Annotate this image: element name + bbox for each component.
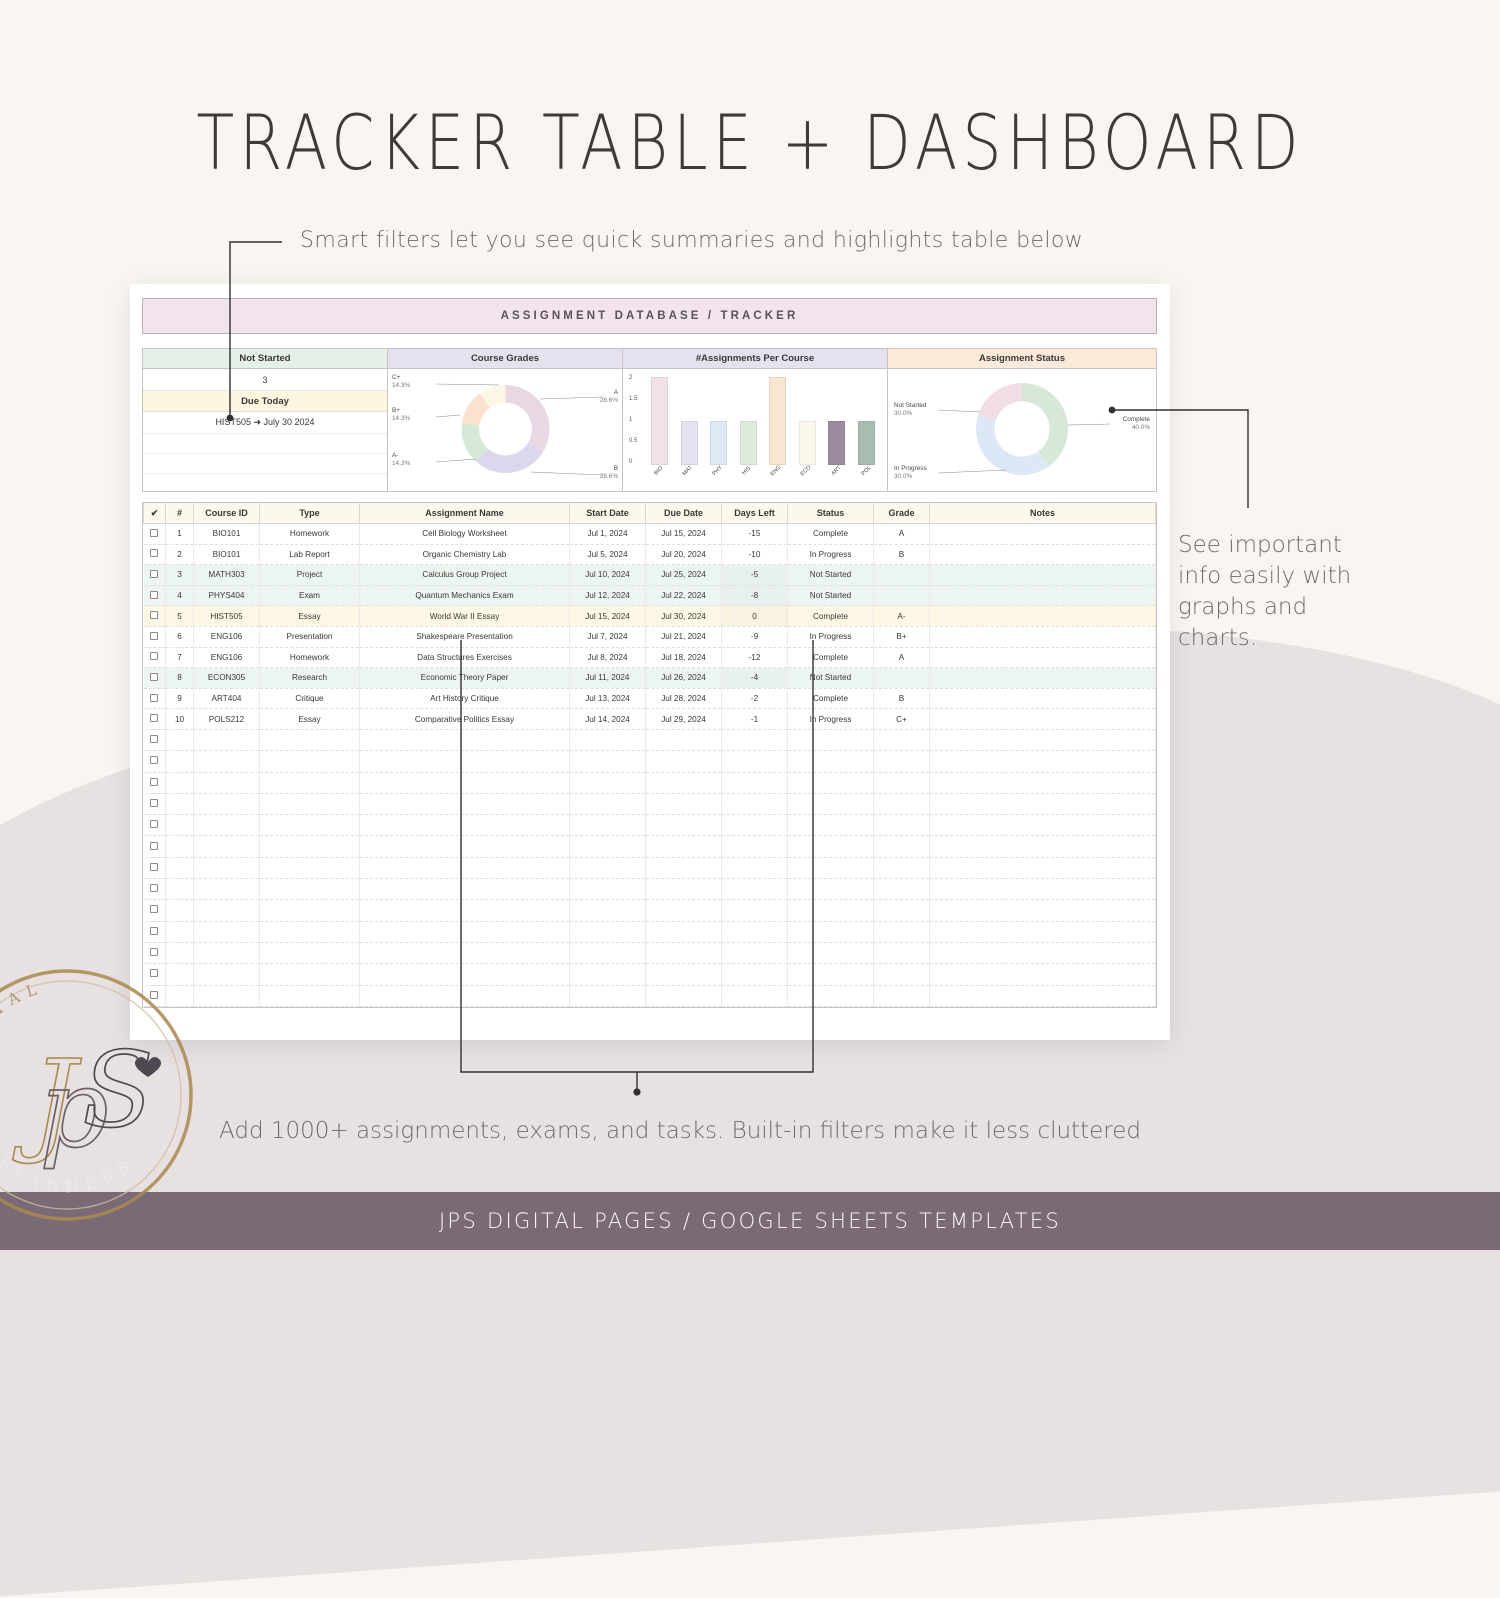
not-started-blank-row: [143, 454, 387, 474]
cell-course-id[interactable]: BIO101: [194, 544, 260, 565]
cell-empty[interactable]: [194, 793, 260, 814]
cell-type[interactable]: Exam: [260, 585, 360, 606]
cell-empty[interactable]: [194, 921, 260, 942]
cell-number[interactable]: 6: [166, 626, 194, 647]
cell-type[interactable]: Essay: [260, 709, 360, 730]
cell-empty[interactable]: [874, 879, 930, 900]
cell-empty[interactable]: [874, 900, 930, 921]
grade-pct-a: 28.6%: [600, 397, 618, 404]
bar-ytick-1-5: 1.5: [629, 396, 637, 402]
cell-days-left[interactable]: -5: [722, 565, 788, 586]
grade-pct-bplus: 14.3%: [392, 415, 410, 422]
cell-notes[interactable]: [930, 668, 1156, 689]
cell-empty[interactable]: [930, 729, 1156, 750]
cell-empty[interactable]: [260, 751, 360, 772]
cell-number[interactable]: 3: [166, 565, 194, 586]
bar-xlabel-pol: POL: [860, 465, 872, 477]
row-checkbox[interactable]: [144, 900, 166, 921]
th-status[interactable]: Status: [788, 503, 874, 524]
table-row[interactable]: 2BIO101Lab ReportOrganic Chemistry LabJu…: [144, 544, 1156, 565]
table-row[interactable]: 1BIO101HomeworkCell Biology WorksheetJul…: [144, 524, 1156, 545]
row-checkbox[interactable]: [144, 709, 166, 730]
cell-type[interactable]: Critique: [260, 688, 360, 709]
cell-empty[interactable]: [260, 964, 360, 985]
grade-pct-b: 28.6%: [600, 473, 618, 480]
cell-days-left[interactable]: -15: [722, 524, 788, 545]
cell-empty[interactable]: [260, 815, 360, 836]
cell-status[interactable]: Not Started: [788, 585, 874, 606]
not-started-blank-row: [143, 434, 387, 454]
cell-notes[interactable]: [930, 709, 1156, 730]
cell-course-id[interactable]: PHYS404: [194, 585, 260, 606]
cell-empty[interactable]: [260, 836, 360, 857]
bar-mat: [681, 421, 698, 465]
cell-empty[interactable]: [930, 815, 1156, 836]
cell-empty[interactable]: [194, 879, 260, 900]
cell-empty[interactable]: [930, 921, 1156, 942]
footer-text: JPS DIGITAL PAGES / GOOGLE SHEETS TEMPLA…: [439, 1209, 1061, 1233]
cell-empty[interactable]: [194, 772, 260, 793]
cell-status[interactable]: Complete: [788, 606, 874, 627]
cell-start-date[interactable]: Jul 5, 2024: [570, 544, 646, 565]
bar-eco: [799, 421, 816, 465]
cell-empty[interactable]: [194, 857, 260, 878]
cell-empty[interactable]: [194, 815, 260, 836]
cell-number[interactable]: 10: [166, 709, 194, 730]
cell-grade[interactable]: B: [874, 688, 930, 709]
row-checkbox[interactable]: [144, 565, 166, 586]
cell-empty[interactable]: [930, 942, 1156, 963]
assignments-bar-chart: 2 1.5 1 0.5 0: [623, 369, 887, 491]
cell-grade[interactable]: B+: [874, 626, 930, 647]
grade-pct-aminus: 14.3%: [392, 460, 410, 467]
cell-type[interactable]: Research: [260, 668, 360, 689]
table-row[interactable]: 3MATH303ProjectCalculus Group ProjectJul…: [144, 565, 1156, 586]
cell-empty[interactable]: [194, 836, 260, 857]
assignment-status-header: Assignment Status: [888, 349, 1156, 369]
cell-start-date[interactable]: Jul 15, 2024: [570, 606, 646, 627]
cell-empty[interactable]: [930, 836, 1156, 857]
cell-empty[interactable]: [166, 900, 194, 921]
th-grade[interactable]: Grade: [874, 503, 930, 524]
cell-course-id[interactable]: ART404: [194, 688, 260, 709]
row-checkbox[interactable]: [144, 544, 166, 565]
bar-pol: [858, 421, 875, 465]
th-check[interactable]: ✔: [144, 503, 166, 524]
bar-xlabel-art: ART: [830, 465, 842, 477]
status-label-not-started-text: Not Started: [894, 402, 926, 409]
bar-eng: [769, 377, 786, 465]
row-checkbox[interactable]: [144, 815, 166, 836]
cell-start-date[interactable]: Jul 1, 2024: [570, 524, 646, 545]
status-pct-not-started: 30.0%: [894, 410, 912, 417]
cell-days-left[interactable]: 0: [722, 606, 788, 627]
cell-empty[interactable]: [874, 815, 930, 836]
grade-label-a: A 28.6%: [600, 389, 618, 405]
cell-due-date[interactable]: Jul 30, 2024: [646, 606, 722, 627]
cell-notes[interactable]: [930, 688, 1156, 709]
cell-assignment-name[interactable]: World War II Essay: [360, 606, 570, 627]
cell-course-id[interactable]: POLS212: [194, 709, 260, 730]
status-label-in-progress-text: In Progress: [894, 465, 927, 472]
cell-empty[interactable]: [930, 751, 1156, 772]
cell-empty[interactable]: [166, 751, 194, 772]
bar-xlabel-his: HIS: [741, 466, 752, 477]
cell-course-id[interactable]: MATH303: [194, 565, 260, 586]
cell-number[interactable]: 2: [166, 544, 194, 565]
cell-notes[interactable]: [930, 606, 1156, 627]
cell-empty[interactable]: [260, 879, 360, 900]
row-checkbox[interactable]: [144, 751, 166, 772]
cell-empty[interactable]: [166, 772, 194, 793]
status-label-not-started: Not Started 30.0%: [894, 402, 926, 418]
callout-top-text: Smart filters let you see quick summarie…: [300, 228, 1083, 253]
not-started-blank-row: [143, 474, 387, 491]
th-days-left[interactable]: Days Left: [722, 503, 788, 524]
bar-xlabel-phy: PHY: [712, 465, 724, 477]
cell-notes[interactable]: [930, 585, 1156, 606]
bar-xlabel-mat: MAT: [682, 465, 694, 477]
cell-number[interactable]: 8: [166, 668, 194, 689]
bar-xlabel-eng: ENG: [770, 465, 783, 478]
bar-ytick-2: 2: [629, 375, 632, 381]
cell-due-date[interactable]: Jul 20, 2024: [646, 544, 722, 565]
cell-assignment-name[interactable]: Quantum Mechanics Exam: [360, 585, 570, 606]
th-type[interactable]: Type: [260, 503, 360, 524]
cell-assignment-name[interactable]: Calculus Group Project: [360, 565, 570, 586]
cell-notes[interactable]: [930, 647, 1156, 668]
cell-empty[interactable]: [260, 921, 360, 942]
cell-empty[interactable]: [874, 985, 930, 1006]
status-pct-in-progress: 30.0%: [894, 473, 912, 480]
cell-grade[interactable]: B: [874, 544, 930, 565]
cell-course-id[interactable]: BIO101: [194, 524, 260, 545]
assignments-per-course-header: #Assignments Per Course: [623, 349, 887, 369]
dashboard-card-course-grades: Course Grades: [388, 349, 623, 491]
cell-type[interactable]: Presentation: [260, 626, 360, 647]
row-checkbox[interactable]: [144, 688, 166, 709]
cell-empty[interactable]: [166, 793, 194, 814]
footer-bar: JPS DIGITAL PAGES / GOOGLE SHEETS TEMPLA…: [0, 1192, 1500, 1250]
leader-line-right: [1108, 404, 1258, 514]
cell-empty[interactable]: [166, 921, 194, 942]
cell-empty[interactable]: [874, 751, 930, 772]
bar-phy: [710, 421, 727, 465]
cell-empty[interactable]: [260, 729, 360, 750]
row-checkbox[interactable]: [144, 729, 166, 750]
th-course-id[interactable]: Course ID: [194, 503, 260, 524]
cell-due-date[interactable]: Jul 15, 2024: [646, 524, 722, 545]
cell-course-id[interactable]: ENG106: [194, 647, 260, 668]
cell-days-left[interactable]: -10: [722, 544, 788, 565]
cell-empty[interactable]: [930, 964, 1156, 985]
cell-notes[interactable]: [930, 544, 1156, 565]
cell-notes[interactable]: [930, 524, 1156, 545]
page-title: TRACKER TABLE + DASHBOARD: [0, 98, 1500, 187]
cell-empty[interactable]: [874, 857, 930, 878]
cell-grade[interactable]: A: [874, 647, 930, 668]
bar-ytick-1: 1: [629, 417, 632, 423]
cell-empty[interactable]: [260, 985, 360, 1006]
bar-ytick-0-5: 0.5: [629, 438, 637, 444]
cell-empty[interactable]: [166, 836, 194, 857]
course-grades-header: Course Grades: [388, 349, 622, 369]
grade-label-a-text: A: [614, 389, 618, 396]
cell-empty[interactable]: [194, 751, 260, 772]
cell-empty[interactable]: [260, 857, 360, 878]
grade-label-aminus-text: A-: [392, 452, 398, 459]
leader-line-top: [222, 236, 302, 426]
cell-start-date[interactable]: Jul 10, 2024: [570, 565, 646, 586]
cell-empty[interactable]: [874, 964, 930, 985]
row-checkbox[interactable]: [144, 772, 166, 793]
bar-his: [740, 421, 757, 465]
logo-monogram-s: S: [82, 1029, 153, 1151]
cell-course-id[interactable]: HIST505: [194, 606, 260, 627]
bar-bio: [651, 377, 668, 465]
cell-course-id[interactable]: ECON305: [194, 668, 260, 689]
bar-xlabel-bio: BIO: [654, 465, 665, 476]
grade-label-bplus: B+ 14.3%: [392, 407, 410, 423]
assignments-per-course-body: 2 1.5 1 0.5 0: [623, 369, 887, 491]
cell-status[interactable]: Complete: [788, 524, 874, 545]
cell-empty[interactable]: [874, 793, 930, 814]
brand-logo: DIGITAL PLANNERS J p S: [0, 950, 212, 1240]
cell-empty[interactable]: [166, 815, 194, 836]
cell-notes[interactable]: [930, 565, 1156, 586]
cell-type[interactable]: Homework: [260, 524, 360, 545]
cell-empty[interactable]: [930, 900, 1156, 921]
cell-notes[interactable]: [930, 626, 1156, 647]
bar-ytick-0: 0: [629, 459, 632, 465]
cell-empty[interactable]: [930, 879, 1156, 900]
cell-status[interactable]: Not Started: [788, 565, 874, 586]
th-due-date[interactable]: Due Date: [646, 503, 722, 524]
grade-label-cplus: C+ 14.3%: [392, 374, 410, 390]
course-grades-donut-chart: C+ 14.3% B+ 14.3% A- 14.3% A: [388, 369, 622, 491]
cell-course-id[interactable]: ENG106: [194, 626, 260, 647]
row-checkbox[interactable]: [144, 524, 166, 545]
cell-start-date[interactable]: Jul 12, 2024: [570, 585, 646, 606]
row-checkbox[interactable]: [144, 921, 166, 942]
cell-grade[interactable]: C+: [874, 709, 930, 730]
th-assignment-name[interactable]: Assignment Name: [360, 503, 570, 524]
callout-right-text: See important info easily with graphs an…: [1178, 530, 1378, 654]
cell-empty[interactable]: [930, 772, 1156, 793]
th-start-date[interactable]: Start Date: [570, 503, 646, 524]
cell-days-left[interactable]: -8: [722, 585, 788, 606]
cell-number[interactable]: 9: [166, 688, 194, 709]
cell-due-date[interactable]: Jul 25, 2024: [646, 565, 722, 586]
grade-pct-cplus: 14.3%: [392, 382, 410, 389]
cell-type[interactable]: Lab Report: [260, 544, 360, 565]
cell-empty[interactable]: [194, 900, 260, 921]
cell-empty[interactable]: [930, 857, 1156, 878]
row-checkbox[interactable]: [144, 668, 166, 689]
cell-empty[interactable]: [874, 942, 930, 963]
cell-empty[interactable]: [874, 772, 930, 793]
cell-empty[interactable]: [930, 793, 1156, 814]
course-grades-body: C+ 14.3% B+ 14.3% A- 14.3% A: [388, 369, 622, 491]
cell-type[interactable]: Project: [260, 565, 360, 586]
cell-grade[interactable]: A-: [874, 606, 930, 627]
row-checkbox[interactable]: [144, 793, 166, 814]
cell-empty[interactable]: [194, 729, 260, 750]
cell-number[interactable]: 7: [166, 647, 194, 668]
cell-empty[interactable]: [260, 942, 360, 963]
cell-number[interactable]: 1: [166, 524, 194, 545]
cell-due-date[interactable]: Jul 22, 2024: [646, 585, 722, 606]
bar-art: [828, 421, 845, 465]
cell-empty[interactable]: [930, 985, 1156, 1006]
status-label-in-progress: In Progress 30.0%: [894, 465, 927, 481]
row-checkbox[interactable]: [144, 836, 166, 857]
cell-number[interactable]: 4: [166, 585, 194, 606]
cell-empty[interactable]: [166, 857, 194, 878]
cell-empty[interactable]: [166, 879, 194, 900]
leader-line-bottom: [455, 628, 825, 1098]
row-checkbox[interactable]: [144, 606, 166, 627]
bar-x-axis-labels: BIO MAT PHY HIS ENG ECO ART POL: [645, 465, 881, 489]
cell-empty[interactable]: [260, 900, 360, 921]
row-checkbox[interactable]: [144, 857, 166, 878]
row-checkbox[interactable]: [144, 647, 166, 668]
th-number[interactable]: #: [166, 503, 194, 524]
cell-empty[interactable]: [260, 772, 360, 793]
bar-plot-area: [645, 377, 881, 465]
cell-type[interactable]: Homework: [260, 647, 360, 668]
cell-assignment-name[interactable]: Organic Chemistry Lab: [360, 544, 570, 565]
bar-xlabel-eco: ECO: [800, 465, 813, 478]
cell-empty[interactable]: [874, 836, 930, 857]
row-checkbox[interactable]: [144, 585, 166, 606]
grade-label-b-text: B: [614, 465, 618, 472]
grade-label-b: B 28.6%: [600, 465, 618, 481]
cell-empty[interactable]: [166, 729, 194, 750]
table-header-row: ✔ # Course ID Type Assignment Name Start…: [144, 503, 1156, 524]
cell-empty[interactable]: [260, 793, 360, 814]
table-row[interactable]: 5HIST505EssayWorld War II EssayJul 15, 2…: [144, 606, 1156, 627]
row-checkbox[interactable]: [144, 626, 166, 647]
dashboard-card-assignments-per-course: #Assignments Per Course 2 1.5 1 0.5 0: [623, 349, 888, 491]
cell-grade[interactable]: [874, 668, 930, 689]
grade-label-bplus-text: B+: [392, 407, 400, 414]
cell-grade[interactable]: [874, 565, 930, 586]
cell-empty[interactable]: [874, 729, 930, 750]
cell-grade[interactable]: A: [874, 524, 930, 545]
grade-label-cplus-text: C+: [392, 374, 400, 381]
cell-number[interactable]: 5: [166, 606, 194, 627]
cell-assignment-name[interactable]: Cell Biology Worksheet: [360, 524, 570, 545]
row-checkbox[interactable]: [144, 879, 166, 900]
table-row[interactable]: 4PHYS404ExamQuantum Mechanics ExamJul 12…: [144, 585, 1156, 606]
grade-label-aminus: A- 14.3%: [392, 452, 410, 468]
cell-grade[interactable]: [874, 585, 930, 606]
cell-status[interactable]: In Progress: [788, 544, 874, 565]
cell-empty[interactable]: [874, 921, 930, 942]
cell-type[interactable]: Essay: [260, 606, 360, 627]
